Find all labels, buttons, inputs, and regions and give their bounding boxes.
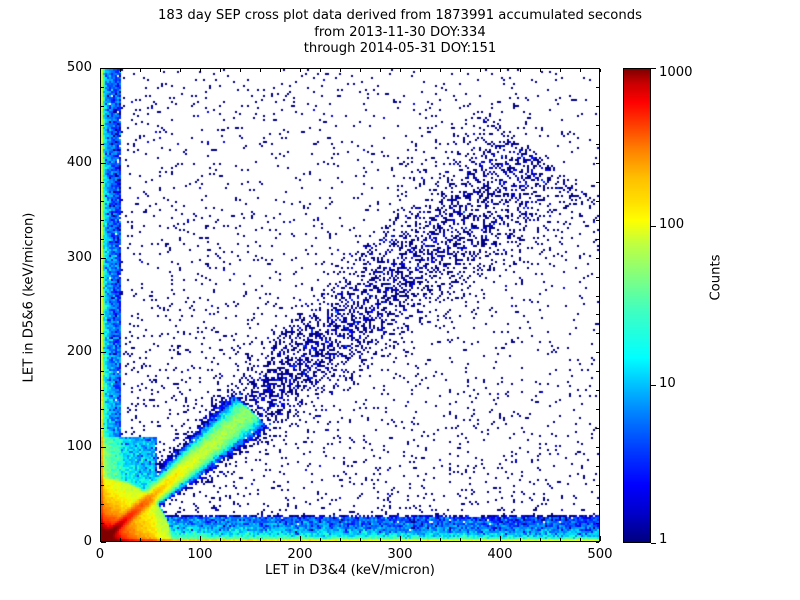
y-minor-tick-right <box>596 277 599 278</box>
colorbar-tick-label: 10 <box>659 376 676 391</box>
x-minor-tick <box>420 538 421 541</box>
y-minor-tick-right <box>596 239 599 240</box>
y-minor-tick <box>101 296 104 297</box>
x-minor-tick-top <box>360 69 361 72</box>
colorbar-tick <box>651 543 656 544</box>
x-major-tick <box>100 536 101 541</box>
x-minor-tick-top <box>280 69 281 72</box>
colorbar-tick <box>651 226 656 227</box>
x-minor-tick-top <box>500 69 501 72</box>
x-minor-tick <box>440 538 441 541</box>
colorbar-tick-label: 100 <box>659 217 684 232</box>
plot-area[interactable] <box>100 68 600 542</box>
y-major-tick <box>101 447 106 448</box>
y-tick-label: 0 <box>32 534 92 549</box>
y-minor-tick <box>101 220 104 221</box>
x-minor-tick-top <box>340 69 341 72</box>
x-minor-tick <box>340 538 341 541</box>
y-minor-tick <box>101 182 104 183</box>
x-minor-tick-top <box>220 69 221 72</box>
y-tick-label: 200 <box>32 344 92 359</box>
y-minor-tick-right <box>596 201 599 202</box>
x-major-tick <box>400 536 401 541</box>
x-minor-tick <box>240 538 241 541</box>
y-minor-tick <box>101 428 104 429</box>
x-minor-tick-top <box>580 69 581 72</box>
y-minor-tick <box>101 201 104 202</box>
y-minor-tick-right <box>596 182 599 183</box>
scatter-heatmap <box>101 69 599 541</box>
y-minor-tick <box>101 371 104 372</box>
y-minor-tick-right <box>596 428 599 429</box>
x-minor-tick-top <box>440 69 441 72</box>
x-minor-tick-top <box>520 69 521 72</box>
y-major-tick <box>101 163 106 164</box>
x-minor-tick-top <box>240 69 241 72</box>
y-minor-tick-right <box>596 523 599 524</box>
colorbar-tick <box>651 385 656 386</box>
x-minor-tick-top <box>400 69 401 72</box>
x-minor-tick <box>220 538 221 541</box>
x-tick-label: 0 <box>70 547 130 562</box>
y-minor-tick-right <box>596 296 599 297</box>
y-axis-label: LET in D5&6 (keV/micron) <box>22 158 37 438</box>
y-minor-tick <box>101 144 104 145</box>
x-minor-tick-top <box>300 69 301 72</box>
y-minor-tick <box>101 125 104 126</box>
x-minor-tick <box>560 538 561 541</box>
y-minor-tick-right <box>596 258 599 259</box>
x-minor-tick-top <box>380 69 381 72</box>
y-minor-tick-right <box>596 409 599 410</box>
y-minor-tick-right <box>596 106 599 107</box>
colorbar-label: Counts <box>709 203 724 353</box>
x-minor-tick <box>180 538 181 541</box>
x-axis-label: LET in D3&4 (keV/micron) <box>100 563 600 578</box>
x-minor-tick <box>480 538 481 541</box>
figure-canvas: 183 day SEP cross plot data derived from… <box>0 0 800 600</box>
x-major-tick <box>300 536 301 541</box>
colorbar-tick-label: 1000 <box>659 65 693 80</box>
y-tick-label: 400 <box>32 155 92 170</box>
y-minor-tick <box>101 504 104 505</box>
x-minor-tick-top <box>180 69 181 72</box>
y-major-tick <box>101 352 106 353</box>
x-minor-tick-top <box>140 69 141 72</box>
title-line-1: 183 day SEP cross plot data derived from… <box>0 8 800 25</box>
x-minor-tick-top <box>600 69 601 72</box>
y-minor-tick <box>101 485 104 486</box>
x-tick-label: 400 <box>470 547 530 562</box>
title-line-2: from 2013-11-30 DOY:334 <box>0 25 800 42</box>
y-minor-tick <box>101 239 104 240</box>
x-minor-tick-top <box>160 69 161 72</box>
y-minor-tick-right <box>596 542 599 543</box>
x-minor-tick <box>380 538 381 541</box>
title-line-3: through 2014-05-31 DOY:151 <box>0 41 800 58</box>
y-minor-tick <box>101 87 104 88</box>
y-minor-tick-right <box>596 466 599 467</box>
x-minor-tick <box>360 538 361 541</box>
y-minor-tick <box>101 390 104 391</box>
x-minor-tick-top <box>320 69 321 72</box>
x-minor-tick-top <box>540 69 541 72</box>
colorbar-tick <box>651 68 656 69</box>
x-minor-tick <box>520 538 521 541</box>
y-minor-tick <box>101 409 104 410</box>
y-major-tick <box>101 258 106 259</box>
y-tick-label: 500 <box>32 60 92 75</box>
colorbar[interactable]: 1101001000 <box>623 68 651 543</box>
y-minor-tick <box>101 314 104 315</box>
y-tick-label: 300 <box>32 250 92 265</box>
y-tick-label: 100 <box>32 439 92 454</box>
x-minor-tick <box>260 538 261 541</box>
y-minor-tick-right <box>596 144 599 145</box>
y-minor-tick-right <box>596 333 599 334</box>
y-minor-tick-right <box>596 163 599 164</box>
y-minor-tick <box>101 523 104 524</box>
colorbar-gradient <box>623 68 651 543</box>
y-minor-tick-right <box>596 371 599 372</box>
x-minor-tick-top <box>120 69 121 72</box>
y-minor-tick-right <box>596 87 599 88</box>
chart-title: 183 day SEP cross plot data derived from… <box>0 8 800 58</box>
y-minor-tick-right <box>596 447 599 448</box>
x-minor-tick-top <box>420 69 421 72</box>
y-minor-tick-right <box>596 314 599 315</box>
y-minor-tick <box>101 333 104 334</box>
y-major-tick <box>101 68 106 69</box>
x-minor-tick <box>460 538 461 541</box>
x-minor-tick <box>120 538 121 541</box>
x-minor-tick <box>540 538 541 541</box>
x-minor-tick-top <box>560 69 561 72</box>
x-minor-tick-top <box>260 69 261 72</box>
y-minor-tick-right <box>596 352 599 353</box>
x-major-tick <box>200 536 201 541</box>
y-minor-tick-right <box>596 504 599 505</box>
x-minor-tick-top <box>480 69 481 72</box>
x-tick-label: 100 <box>170 547 230 562</box>
y-minor-tick-right <box>596 68 599 69</box>
y-minor-tick-right <box>596 220 599 221</box>
x-tick-label: 300 <box>370 547 430 562</box>
y-minor-tick <box>101 277 104 278</box>
colorbar-tick-label: 1 <box>659 532 667 547</box>
x-minor-tick <box>280 538 281 541</box>
x-minor-tick-top <box>200 69 201 72</box>
x-major-tick <box>600 536 601 541</box>
x-minor-tick <box>580 538 581 541</box>
x-minor-tick-top <box>100 69 101 72</box>
y-minor-tick-right <box>596 125 599 126</box>
x-minor-tick-top <box>460 69 461 72</box>
y-minor-tick <box>101 106 104 107</box>
x-minor-tick <box>140 538 141 541</box>
y-minor-tick <box>101 466 104 467</box>
x-minor-tick <box>320 538 321 541</box>
x-tick-label: 200 <box>270 547 330 562</box>
x-major-tick <box>500 536 501 541</box>
y-minor-tick-right <box>596 485 599 486</box>
x-minor-tick <box>160 538 161 541</box>
y-minor-tick-right <box>596 390 599 391</box>
x-tick-label: 500 <box>570 547 630 562</box>
y-major-tick <box>101 542 106 543</box>
